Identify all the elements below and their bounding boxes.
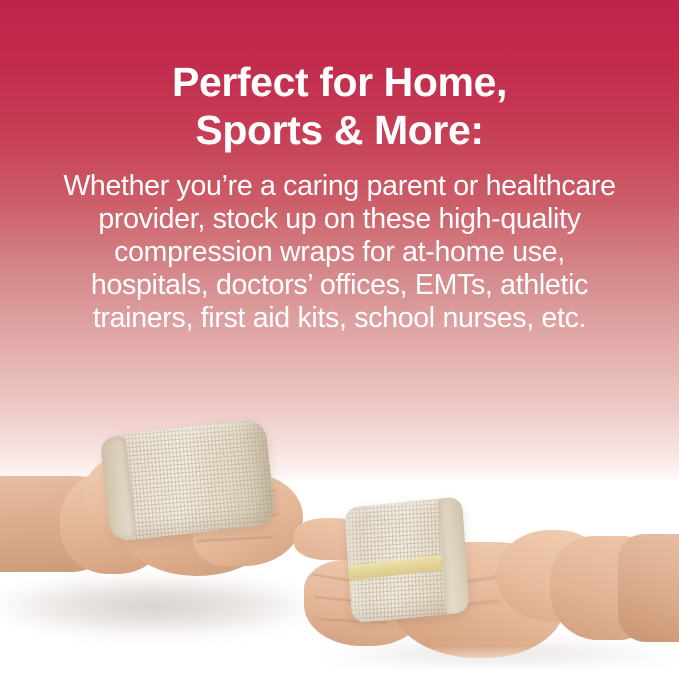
body-line-1: Whether you’re a caring parent or health… <box>0 170 679 203</box>
headline-line-2: Sports & More: <box>0 106 679 154</box>
photo-bottom-fade <box>0 646 679 678</box>
headline: Perfect for Home, Sports & More: <box>0 0 679 154</box>
body-copy: Whether you’re a caring parent or health… <box>0 154 679 335</box>
body-line-5: trainers, first aid kits, school nurses,… <box>0 302 679 335</box>
product-feature-banner: Perfect for Home, Sports & More: Whether… <box>0 0 679 678</box>
text-block: Perfect for Home, Sports & More: Whether… <box>0 0 679 335</box>
headline-line-1: Perfect for Home, <box>0 58 679 106</box>
body-line-2: provider, stock up on these high-quality <box>0 203 679 236</box>
body-line-4: hospitals, doctors’ offices, EMTs, athle… <box>0 269 679 302</box>
body-line-3: compression wraps for at-home use, <box>0 236 679 269</box>
